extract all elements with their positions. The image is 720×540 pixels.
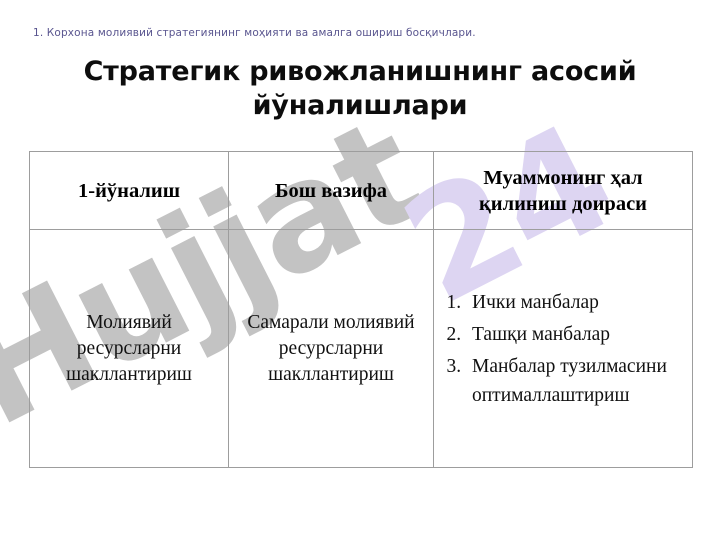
table-header-label-scope-line-2: қилиниш доираси: [440, 191, 686, 217]
strategy-table: 1-йўналиш Бош вазифа Муаммонинг ҳал қили…: [29, 151, 693, 468]
table-header-label-main-task: Бош вазифа: [229, 178, 433, 204]
slide-title-line-2: йўналишлари: [60, 89, 660, 123]
slide-title-line-1: Стратегик ривожланишнинг асосий: [60, 55, 660, 89]
list-item: Манбалар тузилмасини оптималлаштириш: [466, 352, 692, 410]
table-cell-text-main-task: Самарали молиявий ресурсларни шакллантир…: [229, 310, 433, 388]
table-header-cell-scope: Муаммонинг ҳал қилиниш доираси: [434, 152, 693, 230]
slide-title: Стратегик ривожланишнинг асосий йўналишл…: [60, 55, 660, 123]
table-header-cell-direction: 1-йўналиш: [30, 152, 229, 230]
table-header-cell-main-task: Бош вазифа: [229, 152, 434, 230]
slide-subtitle: 1. Корхона молиявий стратегиянинг моҳият…: [33, 27, 476, 39]
table-cell-text-direction: Молиявий ресурсларни шакллантириш: [30, 310, 228, 388]
slide-content: 1. Корхона молиявий стратегиянинг моҳият…: [0, 0, 720, 540]
list-item: Ички манбалар: [466, 288, 692, 317]
table-cell-scope: Ички манбалар Ташқи манбалар Манбалар ту…: [434, 230, 693, 468]
slide-canvas: Hujjat 24 1. Корхона молиявий стратегиян…: [0, 0, 720, 540]
scope-numbered-list: Ички манбалар Ташқи манбалар Манбалар ту…: [434, 288, 692, 410]
table-cell-main-task: Самарали молиявий ресурсларни шакллантир…: [229, 230, 434, 468]
table-header-label-direction: 1-йўналиш: [30, 178, 228, 204]
table-header-label-scope: Муаммонинг ҳал қилиниш доираси: [434, 165, 692, 217]
table-cell-direction: Молиявий ресурсларни шакллантириш: [30, 230, 229, 468]
table-header-label-scope-line-1: Муаммонинг ҳал: [440, 165, 686, 191]
strategy-table-wrapper: 1-йўналиш Бош вазифа Муаммонинг ҳал қили…: [29, 151, 692, 468]
table-header-row: 1-йўналиш Бош вазифа Муаммонинг ҳал қили…: [30, 152, 693, 230]
table-row: Молиявий ресурсларни шакллантириш Самара…: [30, 230, 693, 468]
list-item: Ташқи манбалар: [466, 320, 692, 349]
